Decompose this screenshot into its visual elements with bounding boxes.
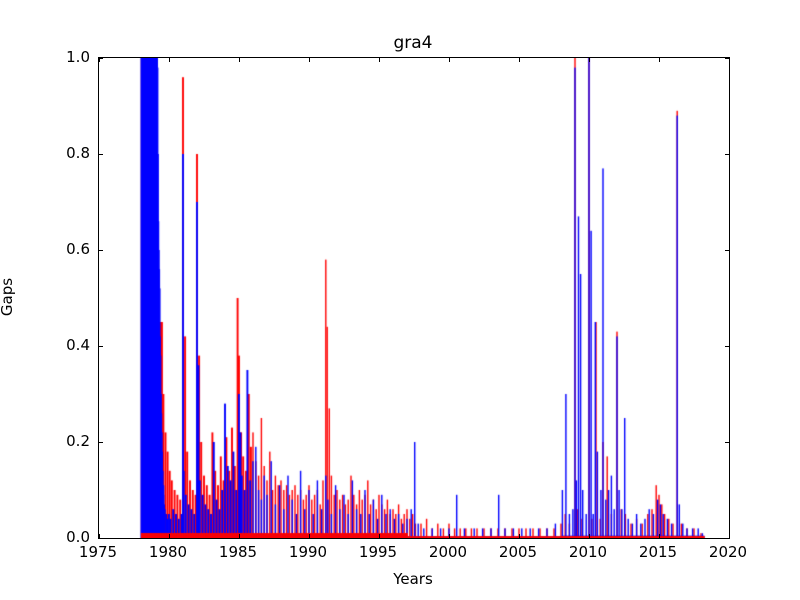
x-tick-label: 2005 — [488, 545, 548, 560]
y-tick-label: 0.4 — [0, 338, 90, 353]
x-tick-mark — [729, 58, 730, 62]
x-tick-label: 1990 — [278, 545, 338, 560]
y-tick-label: 0.2 — [0, 434, 90, 449]
x-tick-label: 1995 — [348, 545, 408, 560]
y-tick-label: 0.8 — [0, 146, 90, 161]
x-tick-label: 2000 — [418, 545, 478, 560]
y-tick-mark — [99, 538, 103, 539]
x-tick-label: 2015 — [628, 545, 688, 560]
x-axis-label: Years — [98, 570, 728, 588]
x-tick-mark — [729, 534, 730, 538]
x-tick-label: 2010 — [558, 545, 618, 560]
x-tick-label: 2020 — [698, 545, 758, 560]
figure-canvas: gra4 Gaps 0.00.20.40.60.81.0 19751980198… — [0, 0, 800, 600]
x-tick-label: 1985 — [208, 545, 268, 560]
y-tick-label: 1.0 — [0, 50, 90, 65]
chart-title: gra4 — [98, 33, 728, 53]
plot-area — [98, 57, 730, 539]
chart-plot-canvas — [99, 58, 729, 538]
y-axis-label: Gaps — [0, 278, 16, 316]
y-tick-mark — [725, 538, 729, 539]
x-tick-label: 1975 — [68, 545, 128, 560]
x-tick-label: 1980 — [138, 545, 198, 560]
y-tick-label: 0.0 — [0, 530, 90, 545]
y-tick-label: 0.6 — [0, 242, 90, 257]
